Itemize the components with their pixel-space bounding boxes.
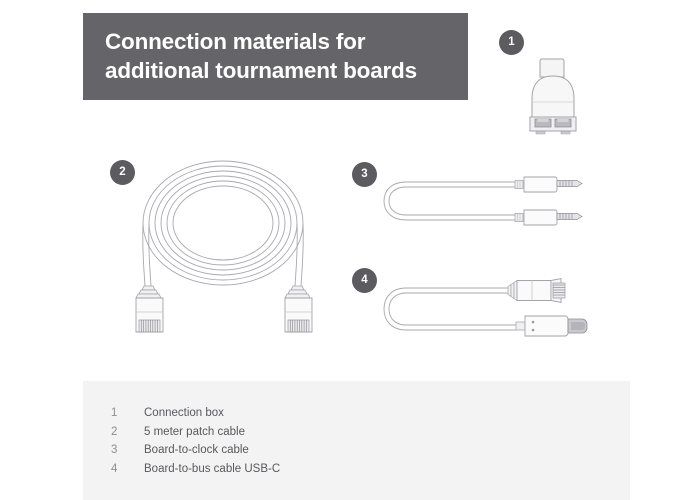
legend-number-2: 2 — [111, 426, 144, 438]
legend-number-3: 3 — [111, 444, 144, 456]
page-title-line-2: additional tournament boards — [105, 56, 468, 85]
patch-cable-illustration — [118, 160, 328, 360]
legend-label-4: Board-to-bus cable USB-C — [144, 463, 280, 475]
legend-list: 1 Connection box 2 5 meter patch cable 3… — [111, 407, 630, 481]
legend-item-2: 2 5 meter patch cable — [111, 426, 630, 445]
legend-label-3: Board-to-clock cable — [144, 444, 249, 456]
dual-3.5mm-jack-cable-icon — [380, 172, 595, 252]
legend-number-1: 1 — [111, 407, 144, 419]
legend-item-3: 3 Board-to-clock cable — [111, 444, 630, 463]
connection-box-illustration — [508, 55, 598, 145]
rj45-to-usbc-cable-icon — [380, 278, 600, 363]
board-to-clock-cable-illustration — [380, 172, 595, 252]
legend-label-2: 5 meter patch cable — [144, 426, 245, 438]
rj45-connector-right — [285, 286, 312, 332]
callout-badge-1: 1 — [499, 30, 524, 55]
page-title-line-1: Connection materials for — [105, 27, 468, 56]
diagram-page: Connection materials for additional tour… — [0, 0, 700, 500]
usbc-plug-bottom — [516, 316, 587, 336]
legend-label-1: Connection box — [144, 407, 224, 419]
rj45-connector-left — [136, 286, 163, 332]
rj45-plug-top — [508, 279, 565, 303]
connection-box-icon — [508, 55, 598, 145]
callout-badge-4: 4 — [352, 268, 377, 293]
legend-panel: 1 Connection box 2 5 meter patch cable 3… — [83, 381, 630, 500]
callout-badge-3: 3 — [352, 162, 377, 187]
coiled-rj45-patch-cable-icon — [118, 160, 328, 360]
jack-plug-top — [515, 177, 582, 192]
legend-item-4: 4 Board-to-bus cable USB-C — [111, 463, 630, 482]
jack-plug-bottom — [515, 210, 582, 225]
board-to-bus-cable-illustration — [380, 278, 600, 363]
title-banner: Connection materials for additional tour… — [83, 13, 468, 100]
legend-item-1: 1 Connection box — [111, 407, 630, 426]
legend-number-4: 4 — [111, 463, 144, 475]
